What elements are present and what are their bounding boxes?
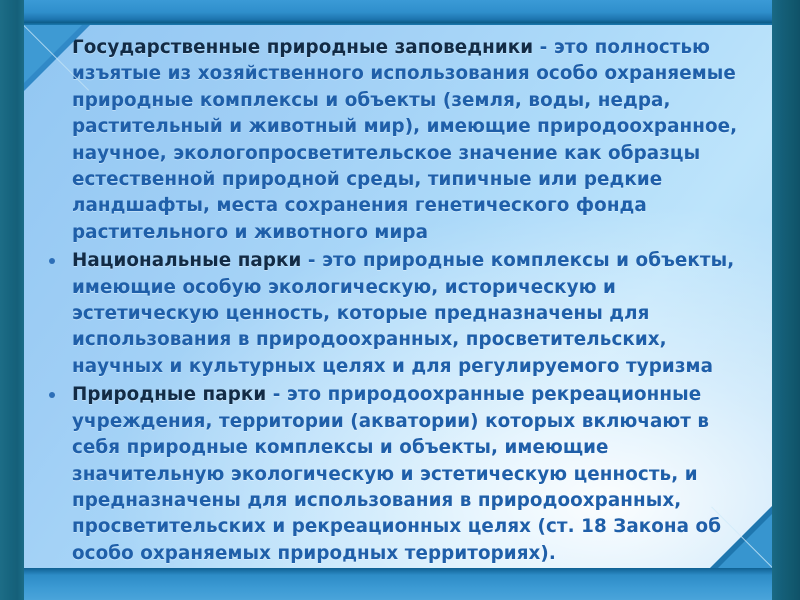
bullet-dot-icon	[49, 258, 55, 264]
slide-frame-left-strip	[0, 0, 24, 600]
bullet-lead-term: Природные парки	[72, 384, 266, 405]
list-item: Природные парки - это природоохранные ре…	[36, 382, 746, 567]
bullet-body-text: - это полностью изъятые из хозяйственног…	[72, 37, 737, 243]
slide-frame-top-band	[0, 0, 800, 22]
slide-content-panel: Государственные природные заповедники - …	[24, 25, 772, 568]
slide-frame-right-strip	[772, 0, 800, 600]
bullet-lead-term: Национальные парки	[72, 250, 301, 271]
slide-bullet-list: Государственные природные заповедники - …	[24, 25, 772, 567]
slide-frame-bottom-band	[0, 568, 800, 600]
bullet-body-text: - это природоохранные рекреационные учре…	[72, 384, 721, 563]
presentation-slide: Государственные природные заповедники - …	[0, 0, 800, 600]
list-item: Государственные природные заповедники - …	[36, 35, 746, 246]
list-item: Национальные парки - это природные компл…	[36, 248, 746, 380]
bullet-dot-icon	[49, 392, 55, 398]
bullet-lead-term: Государственные природные заповедники	[72, 37, 533, 58]
